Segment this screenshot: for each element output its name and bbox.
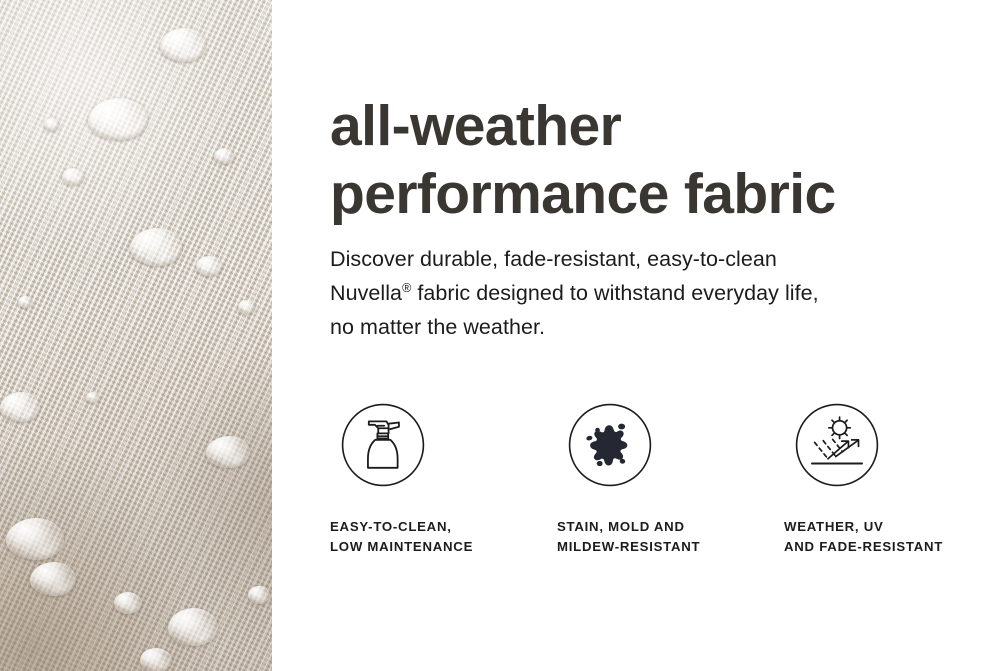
subcopy: Discover durable, fade-resistant, easy-t… <box>330 242 960 344</box>
headline-line-2: performance fabric <box>330 160 990 228</box>
water-droplet <box>160 28 206 62</box>
feature-caption: WEATHER, UV AND FADE-RESISTANT <box>784 517 943 557</box>
subcopy-line-3: no matter the weather. <box>330 310 960 344</box>
sun-uv-reflect-icon <box>794 402 880 488</box>
registered-mark: ® <box>402 281 411 295</box>
water-droplet <box>114 592 142 614</box>
subcopy-line-2-rest: fabric designed to withstand everyday li… <box>417 281 818 305</box>
all-weather-fabric-banner: all-weather performance fabric Discover … <box>0 0 1005 671</box>
water-droplet <box>196 256 222 276</box>
water-droplets <box>0 0 272 671</box>
feature-caption-line-2: AND FADE-RESISTANT <box>784 537 943 557</box>
feature-list: EASY-TO-CLEAN, LOW MAINTENANCE STAIN, MO… <box>330 402 1005 557</box>
fabric-photo <box>0 0 272 671</box>
feature-caption: EASY-TO-CLEAN, LOW MAINTENANCE <box>330 517 473 557</box>
water-droplet <box>168 608 218 646</box>
water-droplet <box>6 518 64 560</box>
stain-splatter-icon <box>567 402 653 488</box>
feature-weather-uv-resistant: WEATHER, UV AND FADE-RESISTANT <box>784 402 1005 557</box>
feature-caption-line-1: EASY-TO-CLEAN, <box>330 517 473 537</box>
water-droplet <box>86 392 99 403</box>
feature-caption-line-2: LOW MAINTENANCE <box>330 537 473 557</box>
water-droplet <box>30 562 76 596</box>
water-droplet <box>248 586 270 604</box>
feature-caption-line-1: STAIN, MOLD AND <box>557 517 700 537</box>
feature-caption-line-2: MILDEW-RESISTANT <box>557 537 700 557</box>
water-droplet <box>0 392 40 422</box>
spray-bottle-icon <box>340 402 426 488</box>
headline-line-1: all-weather <box>330 92 990 160</box>
subcopy-line-2: Nuvella® fabric designed to withstand ev… <box>330 276 960 310</box>
water-droplet <box>140 648 172 671</box>
content-panel: all-weather performance fabric Discover … <box>272 0 1005 671</box>
water-droplet <box>206 436 250 468</box>
water-droplet <box>238 300 255 314</box>
water-droplet <box>62 168 84 185</box>
brand-name: Nuvella <box>330 281 402 305</box>
page-title: all-weather performance fabric <box>330 92 990 228</box>
water-droplet <box>214 148 234 164</box>
feature-caption: STAIN, MOLD AND MILDEW-RESISTANT <box>557 517 700 557</box>
feature-caption-line-1: WEATHER, UV <box>784 517 943 537</box>
water-droplet <box>44 118 59 131</box>
water-droplet <box>18 296 32 308</box>
water-droplet <box>88 98 148 140</box>
feature-easy-to-clean: EASY-TO-CLEAN, LOW MAINTENANCE <box>330 402 557 557</box>
subcopy-line-1: Discover durable, fade-resistant, easy-t… <box>330 242 960 276</box>
feature-stain-resistant: STAIN, MOLD AND MILDEW-RESISTANT <box>557 402 784 557</box>
water-droplet <box>130 228 182 266</box>
